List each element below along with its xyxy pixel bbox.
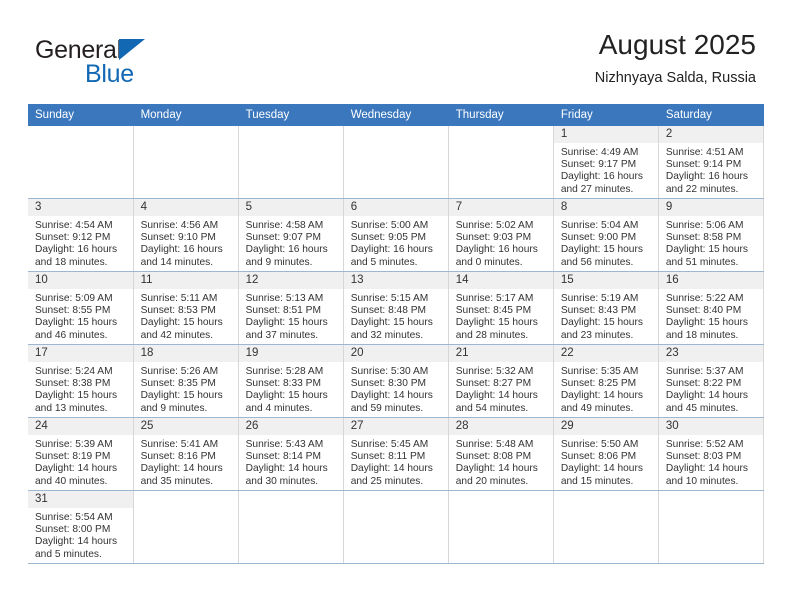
daylight-text-line1: Daylight: 14 hours xyxy=(246,463,338,475)
daylight-text-line1: Daylight: 14 hours xyxy=(666,463,758,475)
day-number-blank xyxy=(449,491,553,508)
daylight-text-line2: and 56 minutes. xyxy=(561,257,653,269)
daylight-text-line2: and 28 minutes. xyxy=(456,330,548,342)
day-details: Sunrise: 5:50 AMSunset: 8:06 PMDaylight:… xyxy=(554,435,658,488)
sunrise-text: Sunrise: 5:41 AM xyxy=(141,439,233,451)
logo-triangle-icon xyxy=(119,39,145,60)
sunset-text: Sunset: 8:22 PM xyxy=(666,378,758,390)
day-details: Sunrise: 5:13 AMSunset: 8:51 PMDaylight:… xyxy=(239,289,343,342)
sunrise-text: Sunrise: 5:02 AM xyxy=(456,220,548,232)
daylight-text-line1: Daylight: 15 hours xyxy=(246,390,338,402)
day-number: 26 xyxy=(239,418,343,435)
daylight-text-line2: and 13 minutes. xyxy=(35,403,128,415)
sunrise-text: Sunrise: 5:17 AM xyxy=(456,293,548,305)
day-number-blank xyxy=(28,126,133,143)
sunrise-text: Sunrise: 4:51 AM xyxy=(666,147,758,159)
day-number: 31 xyxy=(28,491,133,508)
sunset-text: Sunset: 9:07 PM xyxy=(246,232,338,244)
sunset-text: Sunset: 9:05 PM xyxy=(351,232,443,244)
calendar-day-cell[interactable]: 28Sunrise: 5:48 AMSunset: 8:08 PMDayligh… xyxy=(448,418,553,491)
calendar-week-row: 31Sunrise: 5:54 AMSunset: 8:00 PMDayligh… xyxy=(28,491,764,564)
sunrise-text: Sunrise: 5:24 AM xyxy=(35,366,128,378)
sunrise-text: Sunrise: 5:28 AM xyxy=(246,366,338,378)
day-number: 19 xyxy=(239,345,343,362)
day-number: 7 xyxy=(449,199,553,216)
day-details: Sunrise: 5:30 AMSunset: 8:30 PMDaylight:… xyxy=(344,362,448,415)
day-number-blank xyxy=(239,126,343,143)
day-number: 1 xyxy=(554,126,658,143)
day-details: Sunrise: 5:04 AMSunset: 9:00 PMDaylight:… xyxy=(554,216,658,269)
day-number-blank xyxy=(659,491,763,508)
sunset-text: Sunset: 8:03 PM xyxy=(666,451,758,463)
daylight-text-line1: Daylight: 15 hours xyxy=(351,317,443,329)
calendar-cell-empty xyxy=(448,491,553,564)
day-details: Sunrise: 4:54 AMSunset: 9:12 PMDaylight:… xyxy=(28,216,133,269)
day-number: 29 xyxy=(554,418,658,435)
daylight-text-line2: and 5 minutes. xyxy=(351,257,443,269)
daylight-text-line2: and 27 minutes. xyxy=(561,184,653,196)
daylight-text-line2: and 0 minutes. xyxy=(456,257,548,269)
sunset-text: Sunset: 8:16 PM xyxy=(141,451,233,463)
daylight-text-line2: and 9 minutes. xyxy=(141,403,233,415)
sunrise-text: Sunrise: 5:30 AM xyxy=(351,366,443,378)
sunset-text: Sunset: 9:14 PM xyxy=(666,159,758,171)
daylight-text-line2: and 30 minutes. xyxy=(246,476,338,488)
daylight-text-line2: and 25 minutes. xyxy=(351,476,443,488)
daylight-text-line1: Daylight: 16 hours xyxy=(561,171,653,183)
day-details: Sunrise: 5:35 AMSunset: 8:25 PMDaylight:… xyxy=(554,362,658,415)
day-details: Sunrise: 4:51 AMSunset: 9:14 PMDaylight:… xyxy=(659,143,763,196)
calendar-day-cell[interactable]: 4Sunrise: 4:56 AMSunset: 9:10 PMDaylight… xyxy=(133,199,238,272)
day-number: 30 xyxy=(659,418,763,435)
daylight-text-line2: and 18 minutes. xyxy=(666,330,758,342)
calendar-day-cell[interactable]: 7Sunrise: 5:02 AMSunset: 9:03 PMDaylight… xyxy=(448,199,553,272)
logo-text-blue: Blue xyxy=(85,60,134,89)
sunset-text: Sunset: 8:53 PM xyxy=(141,305,233,317)
day-number: 25 xyxy=(134,418,238,435)
daylight-text-line1: Daylight: 14 hours xyxy=(456,390,548,402)
day-details: Sunrise: 5:43 AMSunset: 8:14 PMDaylight:… xyxy=(239,435,343,488)
day-details: Sunrise: 5:17 AMSunset: 8:45 PMDaylight:… xyxy=(449,289,553,342)
calendar-cell-empty xyxy=(553,491,658,564)
day-number: 6 xyxy=(344,199,448,216)
sunset-text: Sunset: 8:14 PM xyxy=(246,451,338,463)
sunrise-text: Sunrise: 5:39 AM xyxy=(35,439,128,451)
calendar-day-cell[interactable]: 20Sunrise: 5:30 AMSunset: 8:30 PMDayligh… xyxy=(343,345,448,418)
calendar-week-row: 10Sunrise: 5:09 AMSunset: 8:55 PMDayligh… xyxy=(28,272,764,345)
day-number: 12 xyxy=(239,272,343,289)
sunrise-text: Sunrise: 5:54 AM xyxy=(35,512,128,524)
calendar-day-cell[interactable]: 5Sunrise: 4:58 AMSunset: 9:07 PMDaylight… xyxy=(238,199,343,272)
sunset-text: Sunset: 8:19 PM xyxy=(35,451,128,463)
sunrise-text: Sunrise: 5:26 AM xyxy=(141,366,233,378)
calendar-day-cell[interactable]: 19Sunrise: 5:28 AMSunset: 8:33 PMDayligh… xyxy=(238,345,343,418)
daylight-text-line1: Daylight: 14 hours xyxy=(561,463,653,475)
daylight-text-line1: Daylight: 14 hours xyxy=(666,390,758,402)
daylight-text-line2: and 9 minutes. xyxy=(246,257,338,269)
daylight-text-line2: and 45 minutes. xyxy=(666,403,758,415)
sunset-text: Sunset: 9:10 PM xyxy=(141,232,233,244)
daylight-text-line1: Daylight: 15 hours xyxy=(35,390,128,402)
day-details: Sunrise: 4:58 AMSunset: 9:07 PMDaylight:… xyxy=(239,216,343,269)
day-details: Sunrise: 5:19 AMSunset: 8:43 PMDaylight:… xyxy=(554,289,658,342)
calendar-day-cell[interactable]: 6Sunrise: 5:00 AMSunset: 9:05 PMDaylight… xyxy=(343,199,448,272)
day-number: 17 xyxy=(28,345,133,362)
daylight-text-line1: Daylight: 15 hours xyxy=(456,317,548,329)
day-details: Sunrise: 5:06 AMSunset: 8:58 PMDaylight:… xyxy=(659,216,763,269)
daylight-text-line1: Daylight: 16 hours xyxy=(666,171,758,183)
calendar-cell-empty xyxy=(133,126,238,199)
sunset-text: Sunset: 8:48 PM xyxy=(351,305,443,317)
calendar-week-row: 3Sunrise: 4:54 AMSunset: 9:12 PMDaylight… xyxy=(28,199,764,272)
day-number: 13 xyxy=(344,272,448,289)
weekday-header-sunday: Sunday xyxy=(28,104,133,126)
day-number: 10 xyxy=(28,272,133,289)
daylight-text-line2: and 35 minutes. xyxy=(141,476,233,488)
calendar-day-cell[interactable]: 23Sunrise: 5:37 AMSunset: 8:22 PMDayligh… xyxy=(658,345,763,418)
sunrise-text: Sunrise: 5:06 AM xyxy=(666,220,758,232)
sunset-text: Sunset: 8:33 PM xyxy=(246,378,338,390)
sunrise-text: Sunrise: 4:54 AM xyxy=(35,220,128,232)
day-number: 8 xyxy=(554,199,658,216)
calendar-cell-empty xyxy=(133,491,238,564)
sunrise-text: Sunrise: 5:43 AM xyxy=(246,439,338,451)
page-header: General Blue August 2025 Nizhnyaya Salda… xyxy=(0,0,792,100)
day-number: 11 xyxy=(134,272,238,289)
calendar-cell-empty xyxy=(238,491,343,564)
sunrise-text: Sunrise: 5:09 AM xyxy=(35,293,128,305)
day-number: 2 xyxy=(659,126,763,143)
day-number: 3 xyxy=(28,199,133,216)
sunset-text: Sunset: 8:11 PM xyxy=(351,451,443,463)
weekday-header-saturday: Saturday xyxy=(658,104,763,126)
sunrise-text: Sunrise: 5:11 AM xyxy=(141,293,233,305)
calendar-day-cell[interactable]: 24Sunrise: 5:39 AMSunset: 8:19 PMDayligh… xyxy=(28,418,133,491)
calendar-day-cell[interactable]: 15Sunrise: 5:19 AMSunset: 8:43 PMDayligh… xyxy=(553,272,658,345)
calendar-day-cell[interactable]: 31Sunrise: 5:54 AMSunset: 8:00 PMDayligh… xyxy=(28,491,133,564)
daylight-text-line1: Daylight: 16 hours xyxy=(141,244,233,256)
sunrise-text: Sunrise: 5:19 AM xyxy=(561,293,653,305)
sunset-text: Sunset: 8:58 PM xyxy=(666,232,758,244)
sunset-text: Sunset: 9:03 PM xyxy=(456,232,548,244)
calendar-cell-empty xyxy=(658,491,763,564)
daylight-text-line1: Daylight: 15 hours xyxy=(561,244,653,256)
sunrise-text: Sunrise: 4:58 AM xyxy=(246,220,338,232)
calendar-day-cell[interactable]: 22Sunrise: 5:35 AMSunset: 8:25 PMDayligh… xyxy=(553,345,658,418)
daylight-text-line1: Daylight: 16 hours xyxy=(35,244,128,256)
daylight-text-line1: Daylight: 15 hours xyxy=(141,317,233,329)
daylight-text-line2: and 22 minutes. xyxy=(666,184,758,196)
calendar-cell-empty xyxy=(343,491,448,564)
daylight-text-line1: Daylight: 16 hours xyxy=(351,244,443,256)
day-number-blank xyxy=(134,491,238,508)
sunset-text: Sunset: 8:55 PM xyxy=(35,305,128,317)
calendar-page: General Blue August 2025 Nizhnyaya Salda… xyxy=(0,0,792,612)
daylight-text-line2: and 4 minutes. xyxy=(246,403,338,415)
sunrise-text: Sunrise: 5:35 AM xyxy=(561,366,653,378)
day-details: Sunrise: 5:09 AMSunset: 8:55 PMDaylight:… xyxy=(28,289,133,342)
calendar-body: 1Sunrise: 4:49 AMSunset: 9:17 PMDaylight… xyxy=(28,126,764,564)
sunset-text: Sunset: 8:27 PM xyxy=(456,378,548,390)
daylight-text-line1: Daylight: 14 hours xyxy=(456,463,548,475)
day-details: Sunrise: 5:54 AMSunset: 8:00 PMDaylight:… xyxy=(28,508,133,561)
daylight-text-line2: and 46 minutes. xyxy=(35,330,128,342)
calendar-day-cell[interactable]: 10Sunrise: 5:09 AMSunset: 8:55 PMDayligh… xyxy=(28,272,133,345)
daylight-text-line2: and 5 minutes. xyxy=(35,549,128,561)
daylight-text-line2: and 14 minutes. xyxy=(141,257,233,269)
calendar-table: Sunday Monday Tuesday Wednesday Thursday… xyxy=(28,104,764,564)
day-number: 23 xyxy=(659,345,763,362)
sunrise-text: Sunrise: 5:04 AM xyxy=(561,220,653,232)
day-number-blank xyxy=(134,126,238,143)
daylight-text-line1: Daylight: 14 hours xyxy=(351,390,443,402)
weekday-header-tuesday: Tuesday xyxy=(238,104,343,126)
calendar-cell-empty xyxy=(448,126,553,199)
day-details: Sunrise: 5:39 AMSunset: 8:19 PMDaylight:… xyxy=(28,435,133,488)
day-details: Sunrise: 5:52 AMSunset: 8:03 PMDaylight:… xyxy=(659,435,763,488)
sunset-text: Sunset: 8:40 PM xyxy=(666,305,758,317)
sunrise-text: Sunrise: 5:50 AM xyxy=(561,439,653,451)
day-number: 22 xyxy=(554,345,658,362)
sunset-text: Sunset: 9:00 PM xyxy=(561,232,653,244)
day-details: Sunrise: 5:11 AMSunset: 8:53 PMDaylight:… xyxy=(134,289,238,342)
day-number: 15 xyxy=(554,272,658,289)
calendar-week-row: 17Sunrise: 5:24 AMSunset: 8:38 PMDayligh… xyxy=(28,345,764,418)
calendar-cell-empty xyxy=(343,126,448,199)
daylight-text-line2: and 54 minutes. xyxy=(456,403,548,415)
day-number: 4 xyxy=(134,199,238,216)
calendar-day-cell[interactable]: 9Sunrise: 5:06 AMSunset: 8:58 PMDaylight… xyxy=(658,199,763,272)
sunset-text: Sunset: 8:30 PM xyxy=(351,378,443,390)
day-details: Sunrise: 5:32 AMSunset: 8:27 PMDaylight:… xyxy=(449,362,553,415)
weekday-header-wednesday: Wednesday xyxy=(343,104,448,126)
calendar-day-cell[interactable]: 21Sunrise: 5:32 AMSunset: 8:27 PMDayligh… xyxy=(448,345,553,418)
general-blue-logo[interactable]: General Blue xyxy=(35,36,215,92)
calendar-day-cell[interactable]: 14Sunrise: 5:17 AMSunset: 8:45 PMDayligh… xyxy=(448,272,553,345)
daylight-text-line2: and 10 minutes. xyxy=(666,476,758,488)
daylight-text-line1: Daylight: 14 hours xyxy=(561,390,653,402)
daylight-text-line2: and 51 minutes. xyxy=(666,257,758,269)
day-number: 5 xyxy=(239,199,343,216)
calendar-week-row: 1Sunrise: 4:49 AMSunset: 9:17 PMDaylight… xyxy=(28,126,764,199)
calendar-day-cell[interactable]: 2Sunrise: 4:51 AMSunset: 9:14 PMDaylight… xyxy=(658,126,763,199)
daylight-text-line1: Daylight: 14 hours xyxy=(35,463,128,475)
day-details: Sunrise: 5:45 AMSunset: 8:11 PMDaylight:… xyxy=(344,435,448,488)
day-details: Sunrise: 5:22 AMSunset: 8:40 PMDaylight:… xyxy=(659,289,763,342)
daylight-text-line2: and 18 minutes. xyxy=(35,257,128,269)
weekday-header-monday: Monday xyxy=(133,104,238,126)
daylight-text-line1: Daylight: 15 hours xyxy=(666,317,758,329)
sunrise-text: Sunrise: 5:48 AM xyxy=(456,439,548,451)
day-number-blank xyxy=(239,491,343,508)
daylight-text-line1: Daylight: 16 hours xyxy=(456,244,548,256)
calendar-day-cell[interactable]: 1Sunrise: 4:49 AMSunset: 9:17 PMDaylight… xyxy=(553,126,658,199)
day-details: Sunrise: 5:26 AMSunset: 8:35 PMDaylight:… xyxy=(134,362,238,415)
title-block: August 2025 Nizhnyaya Salda, Russia xyxy=(595,28,756,88)
sunset-text: Sunset: 8:38 PM xyxy=(35,378,128,390)
day-details: Sunrise: 5:41 AMSunset: 8:16 PMDaylight:… xyxy=(134,435,238,488)
daylight-text-line1: Daylight: 14 hours xyxy=(141,463,233,475)
calendar-day-cell[interactable]: 27Sunrise: 5:45 AMSunset: 8:11 PMDayligh… xyxy=(343,418,448,491)
sunrise-text: Sunrise: 4:49 AM xyxy=(561,147,653,159)
daylight-text-line1: Daylight: 15 hours xyxy=(35,317,128,329)
daylight-text-line1: Daylight: 16 hours xyxy=(246,244,338,256)
sunrise-text: Sunrise: 5:52 AM xyxy=(666,439,758,451)
daylight-text-line2: and 37 minutes. xyxy=(246,330,338,342)
sunset-text: Sunset: 9:17 PM xyxy=(561,159,653,171)
day-number: 21 xyxy=(449,345,553,362)
daylight-text-line2: and 32 minutes. xyxy=(351,330,443,342)
sunset-text: Sunset: 8:25 PM xyxy=(561,378,653,390)
day-details: Sunrise: 4:49 AMSunset: 9:17 PMDaylight:… xyxy=(554,143,658,196)
sunset-text: Sunset: 8:00 PM xyxy=(35,524,128,536)
calendar-day-cell[interactable]: 12Sunrise: 5:13 AMSunset: 8:51 PMDayligh… xyxy=(238,272,343,345)
day-number: 28 xyxy=(449,418,553,435)
sunrise-text: Sunrise: 5:32 AM xyxy=(456,366,548,378)
day-number: 14 xyxy=(449,272,553,289)
sunset-text: Sunset: 8:43 PM xyxy=(561,305,653,317)
calendar-day-cell[interactable]: 17Sunrise: 5:24 AMSunset: 8:38 PMDayligh… xyxy=(28,345,133,418)
sunset-text: Sunset: 8:35 PM xyxy=(141,378,233,390)
day-number-blank xyxy=(344,491,448,508)
day-number-blank xyxy=(344,126,448,143)
day-details: Sunrise: 5:28 AMSunset: 8:33 PMDaylight:… xyxy=(239,362,343,415)
weekday-header-thursday: Thursday xyxy=(448,104,553,126)
calendar-day-cell[interactable]: 29Sunrise: 5:50 AMSunset: 8:06 PMDayligh… xyxy=(553,418,658,491)
day-details: Sunrise: 5:00 AMSunset: 9:05 PMDaylight:… xyxy=(344,216,448,269)
sunset-text: Sunset: 8:51 PM xyxy=(246,305,338,317)
calendar-day-cell[interactable]: 30Sunrise: 5:52 AMSunset: 8:03 PMDayligh… xyxy=(658,418,763,491)
sunset-text: Sunset: 8:08 PM xyxy=(456,451,548,463)
weekday-header-friday: Friday xyxy=(553,104,658,126)
daylight-text-line2: and 40 minutes. xyxy=(35,476,128,488)
calendar-day-cell[interactable]: 11Sunrise: 5:11 AMSunset: 8:53 PMDayligh… xyxy=(133,272,238,345)
calendar-cell-empty xyxy=(238,126,343,199)
calendar-day-cell[interactable]: 3Sunrise: 4:54 AMSunset: 9:12 PMDaylight… xyxy=(28,199,133,272)
daylight-text-line1: Daylight: 15 hours xyxy=(666,244,758,256)
page-subtitle: Nizhnyaya Salda, Russia xyxy=(595,68,756,88)
day-number: 9 xyxy=(659,199,763,216)
calendar-day-cell[interactable]: 8Sunrise: 5:04 AMSunset: 9:00 PMDaylight… xyxy=(553,199,658,272)
day-number-blank xyxy=(449,126,553,143)
sunset-text: Sunset: 9:12 PM xyxy=(35,232,128,244)
daylight-text-line1: Daylight: 14 hours xyxy=(35,536,128,548)
day-number: 16 xyxy=(659,272,763,289)
sunrise-text: Sunrise: 4:56 AM xyxy=(141,220,233,232)
calendar-day-cell[interactable]: 16Sunrise: 5:22 AMSunset: 8:40 PMDayligh… xyxy=(658,272,763,345)
sunrise-text: Sunrise: 5:45 AM xyxy=(351,439,443,451)
calendar-cell-empty xyxy=(28,126,133,199)
daylight-text-line2: and 15 minutes. xyxy=(561,476,653,488)
sunset-text: Sunset: 8:45 PM xyxy=(456,305,548,317)
sunrise-text: Sunrise: 5:37 AM xyxy=(666,366,758,378)
day-details: Sunrise: 5:24 AMSunset: 8:38 PMDaylight:… xyxy=(28,362,133,415)
sunrise-text: Sunrise: 5:13 AM xyxy=(246,293,338,305)
sunrise-text: Sunrise: 5:00 AM xyxy=(351,220,443,232)
daylight-text-line2: and 42 minutes. xyxy=(141,330,233,342)
page-title: August 2025 xyxy=(595,28,756,62)
daylight-text-line1: Daylight: 15 hours xyxy=(141,390,233,402)
daylight-text-line2: and 20 minutes. xyxy=(456,476,548,488)
day-details: Sunrise: 5:37 AMSunset: 8:22 PMDaylight:… xyxy=(659,362,763,415)
sunset-text: Sunset: 8:06 PM xyxy=(561,451,653,463)
daylight-text-line2: and 59 minutes. xyxy=(351,403,443,415)
sunrise-text: Sunrise: 5:15 AM xyxy=(351,293,443,305)
calendar-day-cell[interactable]: 18Sunrise: 5:26 AMSunset: 8:35 PMDayligh… xyxy=(133,345,238,418)
calendar-week-row: 24Sunrise: 5:39 AMSunset: 8:19 PMDayligh… xyxy=(28,418,764,491)
day-details: Sunrise: 5:02 AMSunset: 9:03 PMDaylight:… xyxy=(449,216,553,269)
sunrise-text: Sunrise: 5:22 AM xyxy=(666,293,758,305)
day-number: 20 xyxy=(344,345,448,362)
daylight-text-line2: and 49 minutes. xyxy=(561,403,653,415)
calendar-day-cell[interactable]: 13Sunrise: 5:15 AMSunset: 8:48 PMDayligh… xyxy=(343,272,448,345)
day-number: 18 xyxy=(134,345,238,362)
calendar-header-row: Sunday Monday Tuesday Wednesday Thursday… xyxy=(28,104,764,126)
calendar-day-cell[interactable]: 26Sunrise: 5:43 AMSunset: 8:14 PMDayligh… xyxy=(238,418,343,491)
day-number: 24 xyxy=(28,418,133,435)
daylight-text-line1: Daylight: 15 hours xyxy=(246,317,338,329)
daylight-text-line2: and 23 minutes. xyxy=(561,330,653,342)
day-details: Sunrise: 5:15 AMSunset: 8:48 PMDaylight:… xyxy=(344,289,448,342)
day-details: Sunrise: 5:48 AMSunset: 8:08 PMDaylight:… xyxy=(449,435,553,488)
day-number: 27 xyxy=(344,418,448,435)
day-details: Sunrise: 4:56 AMSunset: 9:10 PMDaylight:… xyxy=(134,216,238,269)
daylight-text-line1: Daylight: 15 hours xyxy=(561,317,653,329)
daylight-text-line1: Daylight: 14 hours xyxy=(351,463,443,475)
day-number-blank xyxy=(554,491,658,508)
calendar-day-cell[interactable]: 25Sunrise: 5:41 AMSunset: 8:16 PMDayligh… xyxy=(133,418,238,491)
